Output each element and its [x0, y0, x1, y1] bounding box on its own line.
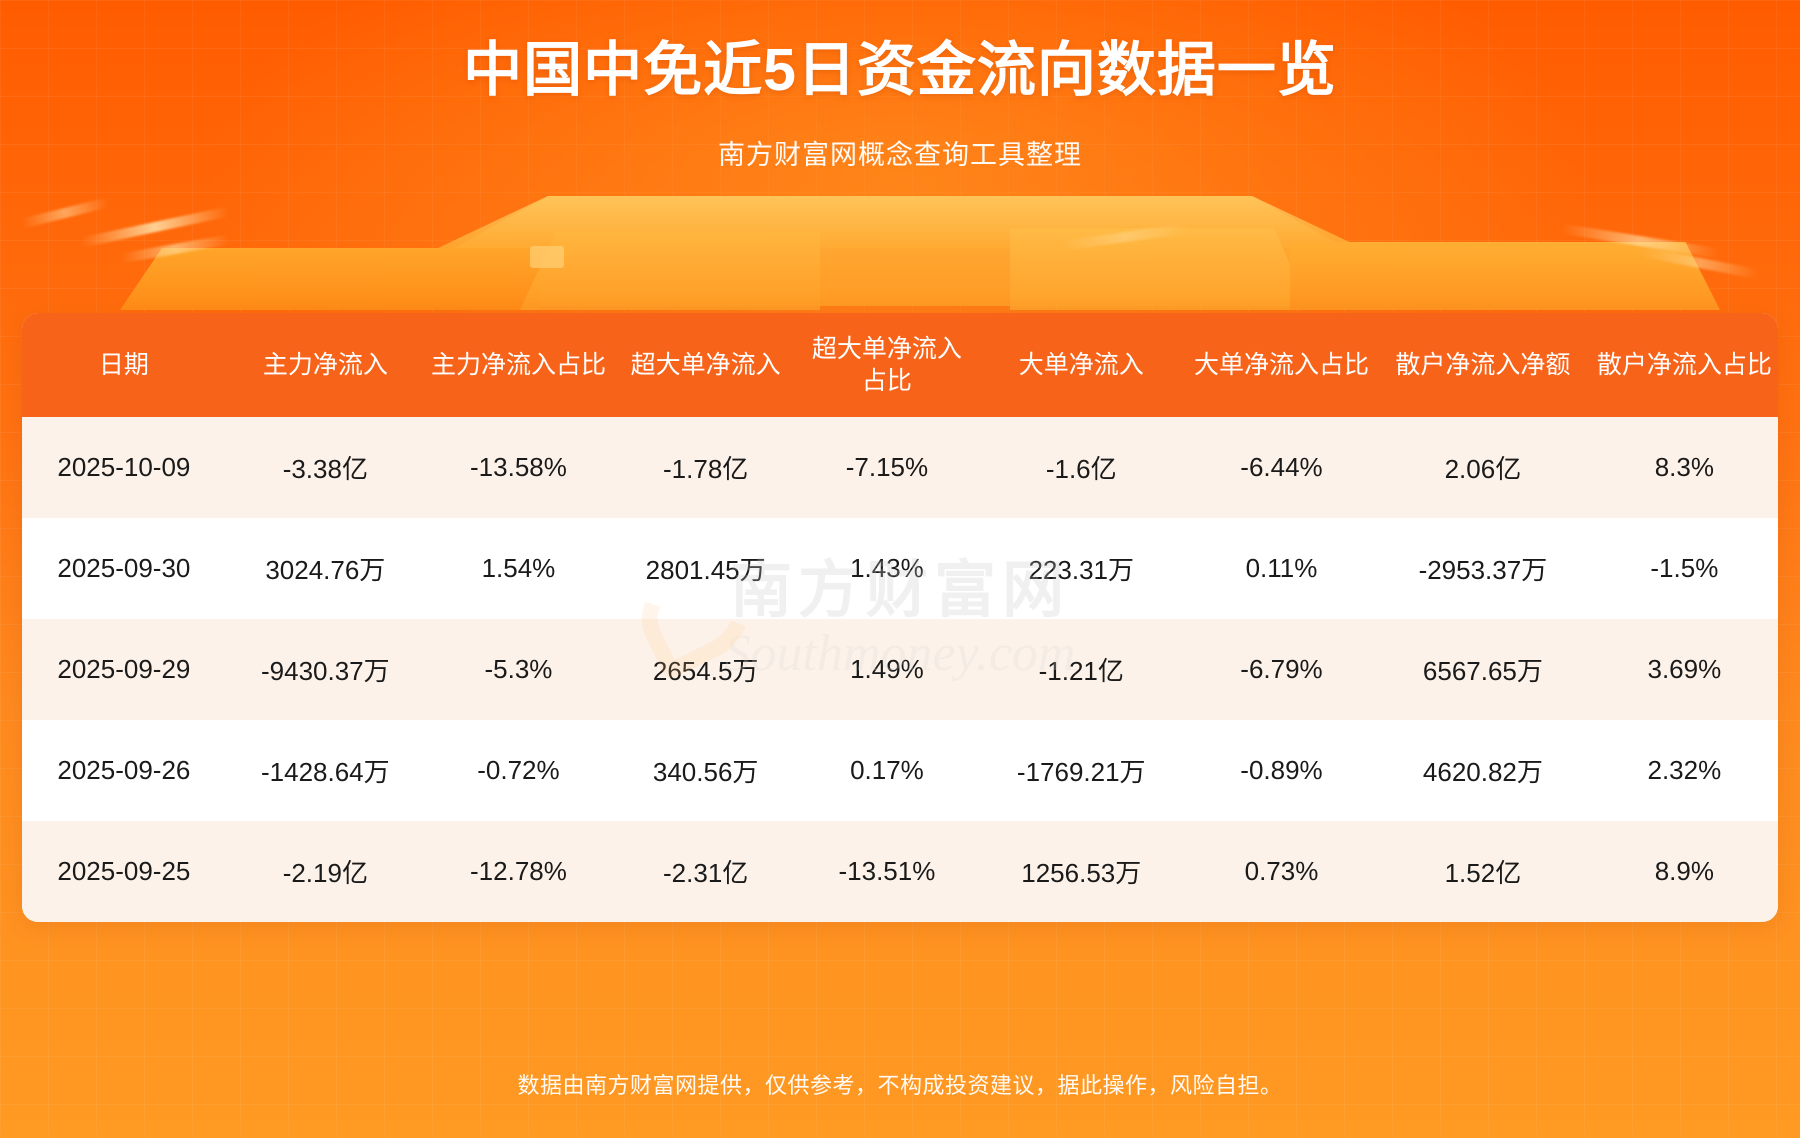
- column-header-xl-net-ratio: 超大单净流入占比: [799, 313, 974, 417]
- cell-main-net-ratio: 1.54%: [425, 518, 612, 619]
- cell-retail-net-amount: 4620.82万: [1375, 720, 1591, 821]
- footer: 数据由南方财富网提供，仅供参考，不构成投资建议，据此操作，风险自担。: [0, 1030, 1800, 1138]
- cell-large-net-inflow: -1.6亿: [975, 417, 1188, 518]
- column-header-main-net-inflow: 主力净流入: [226, 313, 425, 417]
- cell-main-net-inflow: -2.19亿: [226, 821, 425, 922]
- cell-large-net-ratio: -6.44%: [1188, 417, 1375, 518]
- cell-large-net-ratio: -6.79%: [1188, 619, 1375, 720]
- footer-disclaimer: 数据由南方财富网提供，仅供参考，不构成投资建议，据此操作，风险自担。: [517, 1068, 1282, 1100]
- cell-xl-net-inflow: -1.78亿: [612, 417, 799, 518]
- cell-retail-net-ratio: 8.9%: [1591, 821, 1778, 922]
- cell-retail-net-amount: 6567.65万: [1375, 619, 1591, 720]
- cell-retail-net-amount: -2953.37万: [1375, 518, 1591, 619]
- cell-xl-net-ratio: 0.17%: [799, 720, 974, 821]
- cell-date: 2025-09-26: [22, 720, 226, 821]
- cell-xl-net-ratio: 1.43%: [799, 518, 974, 619]
- cell-main-net-ratio: -0.72%: [425, 720, 612, 821]
- table-row: 2025-09-29 -9430.37万 -5.3% 2654.5万 1.49%…: [22, 619, 1778, 720]
- cell-retail-net-amount: 2.06亿: [1375, 417, 1591, 518]
- cell-retail-net-ratio: 8.3%: [1591, 417, 1778, 518]
- cell-date: 2025-09-29: [22, 619, 226, 720]
- cell-retail-net-amount: 1.52亿: [1375, 821, 1591, 922]
- podium-notch-shape: [530, 246, 564, 268]
- column-header-retail-net-amount: 散户净流入净额: [1375, 313, 1591, 417]
- cell-xl-net-inflow: 340.56万: [612, 720, 799, 821]
- cell-main-net-inflow: -3.38亿: [226, 417, 425, 518]
- cell-large-net-ratio: 0.73%: [1188, 821, 1375, 922]
- cell-xl-net-inflow: 2654.5万: [612, 619, 799, 720]
- page-subtitle: 南方财富网概念查询工具整理: [0, 133, 1800, 172]
- cell-xl-net-inflow: 2801.45万: [612, 518, 799, 619]
- column-header-main-net-ratio: 主力净流入占比: [425, 313, 612, 417]
- cell-retail-net-ratio: -1.5%: [1591, 518, 1778, 619]
- podium-mid-right-shape: [1010, 228, 1310, 310]
- table-header-row: 日期 主力净流入 主力净流入占比 超大单净流入 超大单净流入占比 大单净流入 大…: [22, 313, 1778, 417]
- table-header: 日期 主力净流入 主力净流入占比 超大单净流入 超大单净流入占比 大单净流入 大…: [22, 313, 1778, 417]
- column-header-xl-net-inflow: 超大单净流入: [612, 313, 799, 417]
- cell-retail-net-ratio: 2.32%: [1591, 720, 1778, 821]
- cell-retail-net-ratio: 3.69%: [1591, 619, 1778, 720]
- cell-main-net-ratio: -12.78%: [425, 821, 612, 922]
- cell-large-net-inflow: -1.21亿: [975, 619, 1188, 720]
- table-body: 2025-10-09 -3.38亿 -13.58% -1.78亿 -7.15% …: [22, 417, 1778, 922]
- table-row: 2025-09-25 -2.19亿 -12.78% -2.31亿 -13.51%…: [22, 821, 1778, 922]
- cell-large-net-inflow: 1256.53万: [975, 821, 1188, 922]
- podium-mid-left-shape: [520, 232, 820, 310]
- table-row: 2025-10-09 -3.38亿 -13.58% -1.78亿 -7.15% …: [22, 417, 1778, 518]
- cell-main-net-inflow: -1428.64万: [226, 720, 425, 821]
- table-row: 2025-09-26 -1428.64万 -0.72% 340.56万 0.17…: [22, 720, 1778, 821]
- cell-large-net-ratio: -0.89%: [1188, 720, 1375, 821]
- podium-left-shape: [120, 248, 540, 310]
- cell-main-net-ratio: -13.58%: [425, 417, 612, 518]
- column-header-large-net-inflow: 大单净流入: [975, 313, 1188, 417]
- cell-date: 2025-09-30: [22, 518, 226, 619]
- page-title: 中国中免近5日资金流向数据一览: [0, 38, 1800, 103]
- table-row: 2025-09-30 3024.76万 1.54% 2801.45万 1.43%…: [22, 518, 1778, 619]
- cell-main-net-ratio: -5.3%: [425, 619, 612, 720]
- cell-main-net-inflow: 3024.76万: [226, 518, 425, 619]
- cell-xl-net-ratio: -13.51%: [799, 821, 974, 922]
- header: 中国中免近5日资金流向数据一览 南方财富网概念查询工具整理: [0, 0, 1800, 172]
- cell-xl-net-ratio: 1.49%: [799, 619, 974, 720]
- cell-date: 2025-09-25: [22, 821, 226, 922]
- cell-large-net-ratio: 0.11%: [1188, 518, 1375, 619]
- column-header-date: 日期: [22, 313, 226, 417]
- cell-date: 2025-10-09: [22, 417, 226, 518]
- cell-main-net-inflow: -9430.37万: [226, 619, 425, 720]
- cell-xl-net-ratio: -7.15%: [799, 417, 974, 518]
- cell-xl-net-inflow: -2.31亿: [612, 821, 799, 922]
- column-header-retail-net-ratio: 散户净流入占比: [1591, 313, 1778, 417]
- fund-flow-table: 日期 主力净流入 主力净流入占比 超大单净流入 超大单净流入占比 大单净流入 大…: [22, 313, 1778, 922]
- cell-large-net-inflow: 223.31万: [975, 518, 1188, 619]
- cell-large-net-inflow: -1769.21万: [975, 720, 1188, 821]
- column-header-large-net-ratio: 大单净流入占比: [1188, 313, 1375, 417]
- data-table-card: 日期 主力净流入 主力净流入占比 超大单净流入 超大单净流入占比 大单净流入 大…: [22, 313, 1778, 922]
